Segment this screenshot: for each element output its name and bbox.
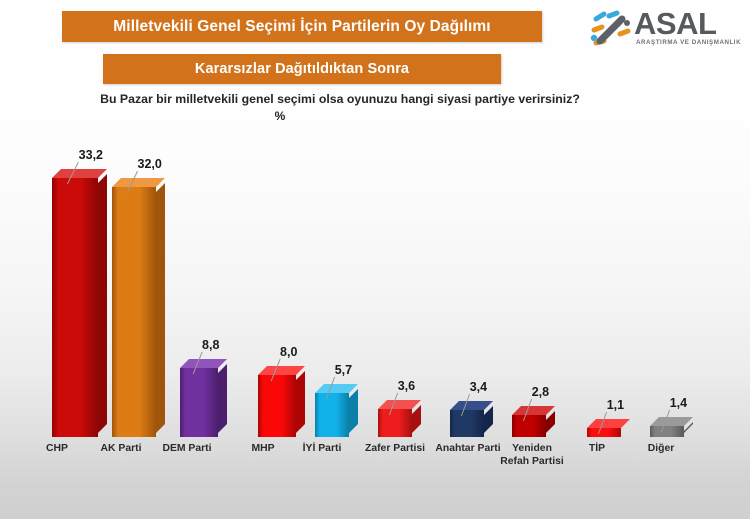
percent-axis-label: % <box>0 109 560 123</box>
category-label-10: Diğer <box>616 442 706 455</box>
bar-side-face <box>98 174 107 433</box>
bar-side-face <box>156 183 165 433</box>
asal-logo: ASAL ARAŞTIRMA VE DANIŞMANLIK <box>590 8 742 52</box>
bar-2[interactable] <box>112 178 165 437</box>
asal-logo-mark-icon <box>590 10 632 50</box>
leader-line-2 <box>120 169 180 213</box>
title-banner: Milletvekili Genel Seçimi İçin Partileri… <box>62 11 542 42</box>
asal-logo-text: ASAL <box>634 8 716 39</box>
asal-logo-tagline: ARAŞTIRMA VE DANIŞMANLIK <box>636 39 741 46</box>
chart-page: Milletvekili Genel Seçimi İçin Partileri… <box>0 0 750 519</box>
subtitle-banner: Kararsızlar Dağıtıldıktan Sonra <box>103 54 501 84</box>
title-banner-text: Milletvekili Genel Seçimi İçin Partileri… <box>113 18 490 36</box>
bar-chart-plot: 33,232,08,88,05,73,63,42,81,11,4 <box>0 128 750 448</box>
question-text: Bu Pazar bir milletvekili genel seçimi o… <box>0 92 680 106</box>
bar-front-face <box>52 178 98 437</box>
bar-front-face <box>112 187 156 437</box>
leader-line-5 <box>321 375 381 419</box>
leader-line-7 <box>456 392 516 436</box>
leader-line-6 <box>384 391 444 435</box>
subtitle-banner-text: Kararsızlar Dağıtıldıktan Sonra <box>195 61 409 77</box>
leader-line-8 <box>518 397 578 441</box>
bar-1[interactable] <box>52 169 107 437</box>
leader-line-3 <box>187 350 247 394</box>
